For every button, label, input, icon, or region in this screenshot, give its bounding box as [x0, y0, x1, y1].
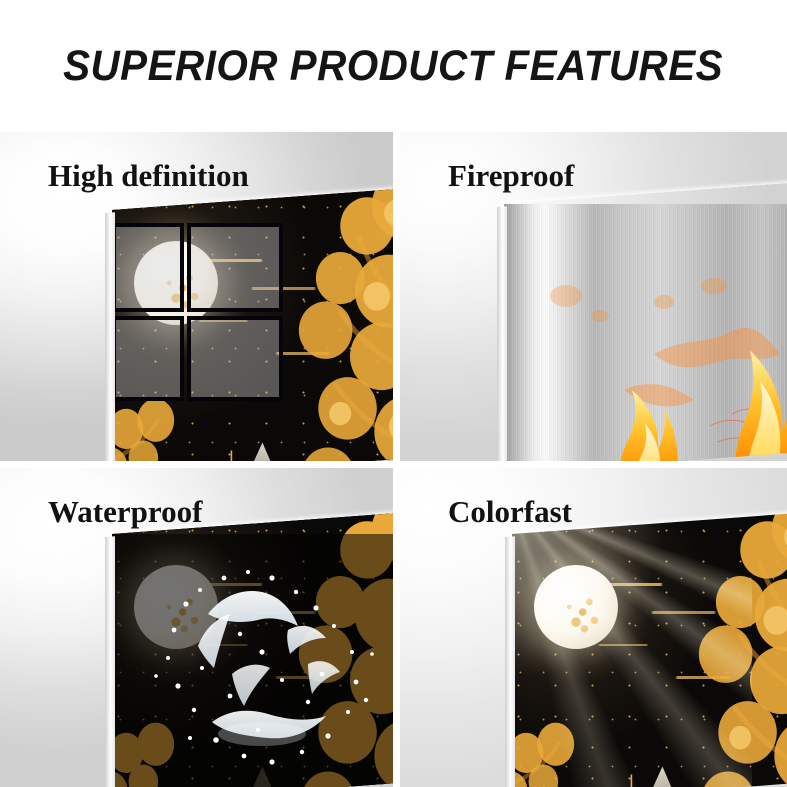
corner-glow [512, 512, 662, 674]
plate-face [112, 512, 393, 787]
feature-label-high-definition: High definition [48, 158, 249, 194]
plate-left-edge [105, 212, 115, 461]
artwork-plate-colorfast [512, 534, 787, 787]
title-bar: SUPERIOR PRODUCT FEATURES [0, 0, 787, 132]
grid-pane [112, 316, 184, 402]
metal-plate-fireproof [504, 204, 787, 461]
artwork-plate-waterproof [112, 534, 393, 787]
flames [504, 204, 787, 461]
plate-face [504, 182, 787, 461]
grid-pane [187, 223, 283, 312]
vertical-divider [393, 132, 400, 787]
plate-left-edge [105, 536, 115, 787]
feature-panel-fireproof[interactable]: Fireproof [400, 132, 787, 461]
feature-label-fireproof: Fireproof [448, 158, 574, 194]
plate-face [512, 512, 787, 787]
grid-pane [112, 223, 184, 312]
feature-panel-high-definition[interactable]: High definition [0, 132, 393, 461]
features-grid: High definition [0, 132, 787, 787]
plate-left-edge [497, 206, 507, 461]
feature-panel-colorfast[interactable]: Colorfast [400, 468, 787, 787]
feature-label-waterproof: Waterproof [48, 494, 202, 530]
grid-pane [187, 316, 283, 402]
horizontal-divider [0, 461, 787, 468]
water-splash [112, 534, 393, 787]
artwork-plate-high-definition [112, 210, 393, 461]
product-features-infographic: SUPERIOR PRODUCT FEATURES High definitio… [0, 0, 787, 787]
feature-panel-waterproof[interactable]: Waterproof [0, 468, 393, 787]
magnifier-grid-overlay [112, 223, 283, 401]
page-title: SUPERIOR PRODUCT FEATURES [63, 42, 723, 91]
plate-face [112, 188, 393, 461]
feature-label-colorfast: Colorfast [448, 494, 572, 530]
plate-left-edge [505, 536, 515, 787]
